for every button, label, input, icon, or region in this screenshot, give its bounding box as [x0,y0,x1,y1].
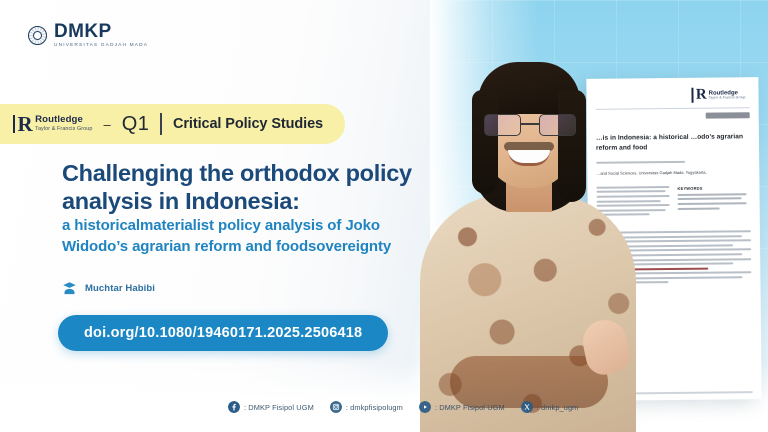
journal-name: Critical Policy Studies [173,116,323,132]
banner-dash: – [103,117,110,132]
author-portrait-photo [398,46,658,432]
routledge-r-mark: R [692,88,706,103]
preview-keyword-line [678,198,742,201]
youtube-icon [419,401,431,413]
preview-keyword-line [678,193,747,196]
instagram-icon [330,401,342,413]
preview-keywords-header: KEYWORDS [677,185,750,191]
social-handle: : dmkpfisipolugm [346,403,403,412]
lens-left [484,114,521,136]
doi-link-button[interactable]: doi.org/10.1080/19460171.2025.2506418 [58,315,388,351]
logo-subtitle: UNIVERSITAS GADJAH MADA [54,44,148,49]
facebook-icon [228,401,240,413]
glasses-bridge [521,123,539,125]
publisher-name: Routledge [35,115,92,126]
preview-open-access-badge [706,112,750,118]
routledge-logo: R Routledge Taylor & Francis Group [13,115,92,134]
preview-routledge-logo: R Routledge Taylor & Francis Group [692,87,746,103]
author-line: Muchtar Habibi [62,281,155,296]
social-facebook[interactable]: : DMKP Fisipol UGM [228,401,314,413]
dmkp-logo: DMKP UNIVERSITAS GADJAH MADA [28,22,148,49]
social-handle: : DMKP Fisipol UGM [244,403,314,412]
preview-keyword-line [678,207,720,209]
lens-right [539,114,576,136]
routledge-r-mark: R [13,115,31,134]
preview-publisher-group: Taylor & Francis Group [709,96,746,100]
hair-right [558,90,586,202]
social-handle: : dmkp_ugm [537,403,579,412]
social-media-bar: : DMKP Fisipol UGM : dmkpfisipolugm : DM… [228,401,578,413]
social-youtube[interactable]: : DMKP Fisipol UGM [419,401,505,413]
banner-separator [160,113,162,135]
social-handle: : DMKP Fisipol UGM [435,403,505,412]
quartile-badge: Q1 [122,113,150,136]
publisher-group: Taylor & Francis Group [35,127,92,133]
social-x-twitter[interactable]: : dmkp_ugm [521,401,579,413]
ugm-seal-icon [28,26,47,45]
preview-keywords-column: KEYWORDS [677,185,750,218]
article-subtitle: a historicalmaterialist policy analysis … [62,216,392,257]
logo-title: DMKP [54,22,148,41]
author-name: Muchtar Habibi [85,283,155,294]
social-instagram[interactable]: : dmkpfisipolugm [330,401,403,413]
person-graduate-icon [62,281,77,296]
x-twitter-icon [521,401,533,413]
preview-keyword-line [678,202,747,205]
hair-left [472,90,498,194]
eyeglasses [484,114,576,136]
article-title: Challenging the orthodox policy analysis… [62,160,432,215]
journal-banner: R Routledge Taylor & Francis Group – Q1 … [0,104,345,144]
